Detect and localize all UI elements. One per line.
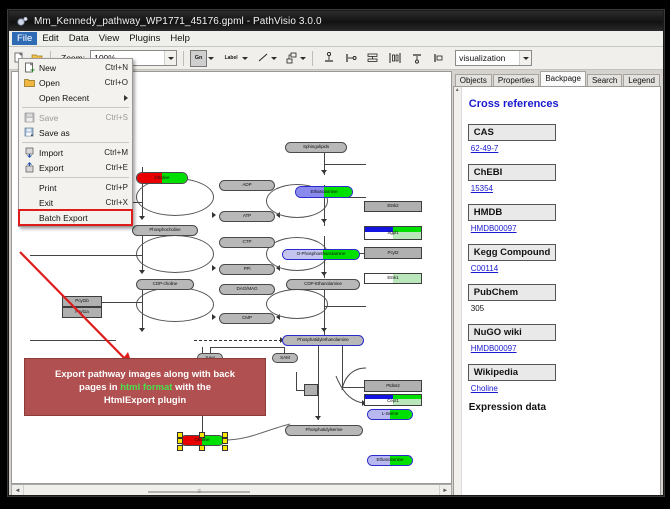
menu-separator bbox=[22, 142, 129, 143]
xref-kegg-compound: Kegg Compound C00114 bbox=[468, 242, 654, 273]
menu-plugins[interactable]: Plugins bbox=[124, 32, 165, 45]
chevron-down-icon[interactable] bbox=[271, 57, 277, 60]
menu-item-label: Open bbox=[37, 78, 105, 88]
align-right-icon[interactable] bbox=[431, 51, 446, 66]
line-tool-group[interactable] bbox=[255, 51, 277, 66]
resize-handle[interactable] bbox=[177, 438, 183, 444]
node-atp[interactable]: ATP bbox=[219, 211, 275, 222]
menu-item-label: Save as bbox=[37, 128, 128, 138]
scroll-thumb[interactable]: ≡ bbox=[148, 491, 250, 493]
node-etnk1[interactable]: Etnk1 bbox=[364, 273, 422, 284]
xref-link[interactable]: HMDB00097 bbox=[471, 224, 654, 233]
align-top-icon[interactable] bbox=[321, 51, 336, 66]
edge-chka-v bbox=[296, 372, 297, 390]
new-file-icon bbox=[21, 62, 37, 73]
xref-db-label: CAS bbox=[468, 124, 556, 141]
menu-item-accel: Ctrl+M bbox=[104, 148, 132, 157]
node-adp[interactable]: ADP bbox=[219, 180, 275, 191]
label-tool-group[interactable]: Label bbox=[221, 51, 248, 66]
datanode-icon[interactable]: Gn bbox=[190, 50, 207, 67]
backpage-vertical-scrollbar[interactable]: ▲ bbox=[454, 87, 462, 496]
xref-db-label: Wikipedia bbox=[468, 364, 556, 381]
menu-item-import[interactable]: Import Ctrl+M bbox=[19, 145, 132, 160]
menu-item-label: New bbox=[37, 63, 105, 73]
node-cept1[interactable]: Cept1 bbox=[364, 394, 422, 406]
menu-item-label: Export bbox=[37, 163, 106, 173]
menu-item-print[interactable]: Print Ctrl+P bbox=[19, 180, 132, 195]
node-ethanolamine-out[interactable]: Ethanolamine bbox=[367, 455, 413, 466]
menu-item-new[interactable]: New Ctrl+N bbox=[19, 60, 132, 75]
node-phosphatidylserine[interactable]: Phosphatidylserine bbox=[285, 425, 363, 436]
callout-line-3: HtmlExport plugin bbox=[104, 394, 186, 407]
arrow-icon bbox=[321, 219, 327, 223]
menu-item-accel: Ctrl+N bbox=[105, 63, 132, 72]
visualization-value: visualization bbox=[459, 53, 519, 63]
edge-sam-sah bbox=[210, 347, 285, 348]
node-o-phosphoethanolamine[interactable]: O-Phosphoethanolamine bbox=[282, 249, 360, 260]
node-ctp[interactable]: CTP bbox=[219, 237, 275, 248]
menu-item-export[interactable]: Export Ctrl+E bbox=[19, 160, 132, 175]
menu-bar[interactable]: File Edit Data View Plugins Help bbox=[9, 31, 663, 47]
resize-handle[interactable] bbox=[177, 445, 183, 451]
title-bar: Mm_Kennedy_pathway_WP1771_45176.gpml - P… bbox=[9, 11, 663, 31]
menu-item-label: Exit bbox=[37, 198, 106, 208]
visualization-select[interactable]: visualization bbox=[455, 50, 532, 66]
menu-item-save: Save Ctrl+S bbox=[19, 110, 132, 125]
tab-backpage[interactable]: Backpage bbox=[540, 71, 586, 86]
file-menu-dropdown[interactable]: New Ctrl+N Open Ctrl+O Open Recent bbox=[18, 58, 133, 227]
backpage-content: Cross references CAS 62-49-7 ChEBI 15354… bbox=[462, 87, 660, 417]
arrow-icon bbox=[212, 212, 216, 218]
callout-line-2: pages in html format with the bbox=[79, 381, 211, 394]
node-etnk2[interactable]: Etnk2 bbox=[364, 201, 422, 212]
menu-item-accel: Ctrl+P bbox=[106, 183, 132, 192]
toolbar-separator bbox=[312, 51, 313, 66]
node-chka[interactable] bbox=[304, 384, 318, 396]
menu-item-label: Open Recent bbox=[37, 93, 124, 103]
reaction-ellipse bbox=[266, 289, 328, 319]
node-dag-mag[interactable]: DAG/MAG bbox=[219, 284, 275, 295]
xref-nugo-wiki: NuGO wiki HMDB00097 bbox=[468, 322, 654, 353]
resize-handle[interactable] bbox=[222, 438, 228, 444]
window-title: Mm_Kennedy_pathway_WP1771_45176.gpml - P… bbox=[34, 16, 322, 27]
node-cmp[interactable]: CMP bbox=[219, 313, 275, 324]
xref-db-label: PubChem bbox=[468, 284, 556, 301]
xref-cas: CAS 62-49-7 bbox=[468, 122, 654, 153]
pathvisio-window: Mm_Kennedy_pathway_WP1771_45176.gpml - P… bbox=[8, 10, 664, 496]
label-icon[interactable]: Label bbox=[221, 51, 241, 66]
xref-link[interactable]: 15354 bbox=[471, 184, 654, 193]
menu-edit[interactable]: Edit bbox=[37, 32, 63, 45]
edge-pc-pe-dashed bbox=[194, 340, 282, 341]
side-panel-tabs[interactable]: Objects Properties Backpage Search Legen… bbox=[453, 72, 661, 86]
menu-item-accel: Ctrl+X bbox=[106, 198, 132, 207]
menu-help[interactable]: Help bbox=[165, 32, 195, 45]
menu-separator bbox=[22, 107, 129, 108]
xref-link[interactable]: Choline bbox=[471, 384, 654, 393]
xref-link[interactable]: HMDB00097 bbox=[471, 344, 654, 353]
callout-line-1: Export pathway images along with back bbox=[55, 368, 235, 381]
xref-chebi: ChEBI 15354 bbox=[468, 162, 654, 193]
submenu-arrow-icon bbox=[124, 95, 128, 101]
node-cdp-ethanolamine[interactable]: CDP-Ethanolamine bbox=[286, 279, 360, 290]
edge-pe-ps bbox=[318, 346, 319, 420]
chevron-down-icon[interactable] bbox=[242, 57, 248, 60]
canvas-horizontal-scrollbar[interactable]: ◄ ≡ ► bbox=[11, 484, 452, 496]
resize-handle[interactable] bbox=[177, 432, 183, 438]
resize-handle[interactable] bbox=[222, 432, 228, 438]
xref-wikipedia: Wikipedia Choline bbox=[468, 362, 654, 393]
xref-db-label: ChEBI bbox=[468, 164, 556, 181]
pathvisio-icon bbox=[16, 15, 29, 28]
node-ethanolamine[interactable]: Ethanolamine bbox=[295, 186, 353, 198]
arrow-icon bbox=[212, 265, 216, 271]
scroll-up-icon[interactable]: ▲ bbox=[454, 87, 461, 94]
node-ptdss2[interactable]: Ptdss2 bbox=[364, 380, 422, 392]
xref-link[interactable]: 62-49-7 bbox=[471, 144, 654, 153]
node-sam[interactable]: SAM bbox=[272, 353, 298, 363]
menu-item-label: Save bbox=[37, 113, 106, 123]
menu-item-save-as[interactable]: Save as bbox=[19, 125, 132, 140]
scroll-right-icon[interactable]: ► bbox=[439, 485, 451, 496]
xref-hmdb: HMDB HMDB00097 bbox=[468, 202, 654, 233]
chevron-down-icon[interactable] bbox=[519, 51, 531, 65]
curve-ethanolamine-out bbox=[324, 372, 376, 412]
resize-handle[interactable] bbox=[199, 445, 205, 451]
menu-item-accel: Ctrl+O bbox=[105, 78, 132, 87]
menu-data[interactable]: Data bbox=[64, 32, 94, 45]
arrow-icon bbox=[321, 170, 327, 174]
arrow-icon bbox=[212, 314, 216, 320]
chevron-down-icon[interactable] bbox=[208, 57, 214, 60]
node-sgpl1[interactable]: Sgpl1 bbox=[364, 226, 422, 240]
screenshot-root: Mm_Kennedy_pathway_WP1771_45176.gpml - P… bbox=[0, 0, 670, 509]
node-ppi[interactable]: PPi bbox=[219, 264, 275, 275]
callout-line-2-a: pages in bbox=[79, 382, 120, 393]
scroll-left-icon[interactable]: ◄ bbox=[12, 485, 24, 496]
chevron-down-icon[interactable] bbox=[300, 57, 306, 60]
distribute-icon[interactable] bbox=[387, 51, 402, 66]
resize-handle[interactable] bbox=[222, 445, 228, 451]
menu-separator bbox=[22, 177, 129, 178]
arrow-icon bbox=[315, 416, 321, 420]
align-bottom-icon[interactable] bbox=[409, 51, 424, 66]
align-stack-icon[interactable] bbox=[365, 51, 380, 66]
xref-db-label: HMDB bbox=[468, 204, 556, 221]
datanode-tool-group[interactable]: Gn bbox=[190, 50, 214, 67]
save-as-icon bbox=[21, 127, 37, 138]
annotation-callout: Export pathway images along with back pa… bbox=[24, 358, 266, 416]
edge-gene-connector bbox=[324, 164, 366, 165]
arrow-icon bbox=[321, 272, 327, 276]
toolbar-separator bbox=[183, 51, 184, 66]
menu-item-label: Print bbox=[37, 183, 106, 193]
xref-db-label: NuGO wiki bbox=[468, 324, 556, 341]
xref-link[interactable]: C00114 bbox=[471, 264, 654, 273]
shape-icon[interactable] bbox=[284, 51, 299, 66]
expression-data-title: Expression data bbox=[469, 402, 654, 413]
shape-tool-group[interactable] bbox=[284, 51, 306, 66]
menu-file[interactable]: File bbox=[12, 32, 37, 45]
open-folder-icon bbox=[21, 77, 37, 88]
node-pcyt2[interactable]: Pcyt2 bbox=[364, 247, 422, 259]
arrow-icon bbox=[321, 328, 327, 332]
node-sphingolipids[interactable]: Sphingolipids bbox=[285, 142, 347, 153]
node-choline-selected[interactable]: Choline bbox=[176, 431, 228, 450]
menu-item-accel: Ctrl+S bbox=[106, 113, 132, 122]
menu-item-open-recent[interactable]: Open Recent bbox=[19, 90, 132, 105]
xref-pubchem: PubChem 305 bbox=[468, 282, 654, 313]
menu-view[interactable]: View bbox=[94, 32, 124, 45]
import-icon bbox=[21, 147, 37, 158]
save-icon bbox=[21, 112, 37, 123]
chevron-down-icon[interactable] bbox=[164, 51, 176, 65]
callout-line-2-b: with the bbox=[172, 382, 211, 393]
backpage-panel: ▲ Cross references CAS 62-49-7 ChEBI 153… bbox=[453, 86, 661, 496]
line-icon[interactable] bbox=[255, 51, 270, 66]
menu-item-batch-export-wrap: Batch Export bbox=[19, 210, 132, 225]
node-l-serine[interactable]: L-Serine bbox=[367, 409, 413, 420]
menu-item-label: Import bbox=[37, 148, 104, 158]
side-panel: Objects Properties Backpage Search Legen… bbox=[452, 70, 663, 496]
align-left-icon[interactable] bbox=[343, 51, 358, 66]
menu-item-open[interactable]: Open Ctrl+O bbox=[19, 75, 132, 90]
callout-highlight: html format bbox=[120, 382, 172, 393]
node-phosphatidylethanolamine[interactable]: Phosphatidylethanolamine bbox=[282, 335, 364, 346]
export-icon bbox=[21, 162, 37, 173]
xref-db-label: Kegg Compound bbox=[468, 244, 557, 261]
edge-gene-connector bbox=[324, 306, 366, 307]
menu-item-label: Batch Export bbox=[37, 213, 132, 223]
cross-references-title: Cross references bbox=[469, 98, 654, 110]
menu-item-exit[interactable]: Exit Ctrl+X bbox=[19, 195, 132, 210]
xref-value: 305 bbox=[471, 304, 654, 313]
menu-item-accel: Ctrl+E bbox=[106, 163, 132, 172]
menu-item-batch-export[interactable]: Batch Export bbox=[19, 210, 132, 225]
